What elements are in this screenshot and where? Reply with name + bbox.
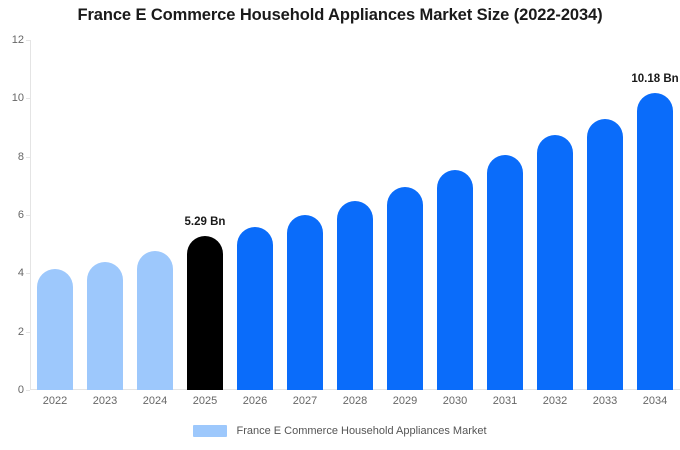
y-axis-tick-label: 12 [0,34,24,46]
bar-slot [530,40,580,390]
bar-value-label: 5.29 Bn [185,216,226,228]
bar-slot [380,40,430,390]
y-axis-tick-mark [26,390,30,391]
legend-label: France E Commerce Household Appliances M… [236,425,486,437]
bar-2027[interactable] [287,215,323,390]
x-axis-tick-label: 2032 [530,395,580,407]
bar-slot [430,40,480,390]
y-axis-tick-label: 8 [0,151,24,163]
bar-2028[interactable] [337,201,373,390]
bar-2033[interactable] [587,119,623,390]
bar-2022[interactable] [37,269,73,390]
x-axis-tick-label: 2027 [280,395,330,407]
bar-slot [30,40,80,390]
chart-legend: France E Commerce Household Appliances M… [0,425,680,437]
y-axis-tick-mark [26,157,30,158]
bar-slot [330,40,380,390]
y-axis-tick-label: 10 [0,92,24,104]
bar-2030[interactable] [437,170,473,390]
bar-slot [580,40,630,390]
plot-area: 5.29 Bn10.18 Bn 024681012 [30,40,680,390]
x-axis-tick-label: 2029 [380,395,430,407]
bars-layer: 5.29 Bn10.18 Bn [30,40,680,390]
bar-2023[interactable] [87,262,123,390]
bar-2024[interactable] [137,251,173,390]
chart-container: France E Commerce Household Appliances M… [0,0,680,450]
bar-slot [80,40,130,390]
bar-slot: 10.18 Bn [630,40,680,390]
y-axis-tick-label: 6 [0,209,24,221]
x-axis-tick-label: 2033 [580,395,630,407]
x-axis-tick-label: 2025 [180,395,230,407]
x-axis-tick-label: 2031 [480,395,530,407]
x-axis-ticks: 2022202320242025202620272028202920302031… [30,392,680,414]
y-axis-tick-mark [26,40,30,41]
bar-value-label: 10.18 Bn [631,73,678,85]
bar-2029[interactable] [387,187,423,390]
bar-2026[interactable] [237,227,273,390]
bar-slot [130,40,180,390]
x-axis-tick-label: 2026 [230,395,280,407]
y-axis-tick-label: 2 [0,326,24,338]
x-axis-tick-label: 2034 [630,395,680,407]
y-axis-tick-label: 0 [0,384,24,396]
x-axis-tick-label: 2023 [80,395,130,407]
bar-2034[interactable] [637,93,673,390]
bar-2031[interactable] [487,155,523,390]
bar-slot [280,40,330,390]
bar-2032[interactable] [537,135,573,390]
y-axis-tick-mark [26,98,30,99]
x-axis-tick-label: 2028 [330,395,380,407]
y-axis-tick-mark [26,273,30,274]
y-axis-tick-mark [26,332,30,333]
chart-title: France E Commerce Household Appliances M… [0,6,680,25]
bar-slot [480,40,530,390]
x-axis-tick-label: 2030 [430,395,480,407]
bar-slot: 5.29 Bn [180,40,230,390]
bar-slot [230,40,280,390]
x-axis-tick-label: 2024 [130,395,180,407]
y-axis-tick-label: 4 [0,267,24,279]
y-axis-tick-mark [26,215,30,216]
legend-swatch [193,425,227,437]
bar-2025[interactable] [187,236,223,390]
x-axis-tick-label: 2022 [30,395,80,407]
